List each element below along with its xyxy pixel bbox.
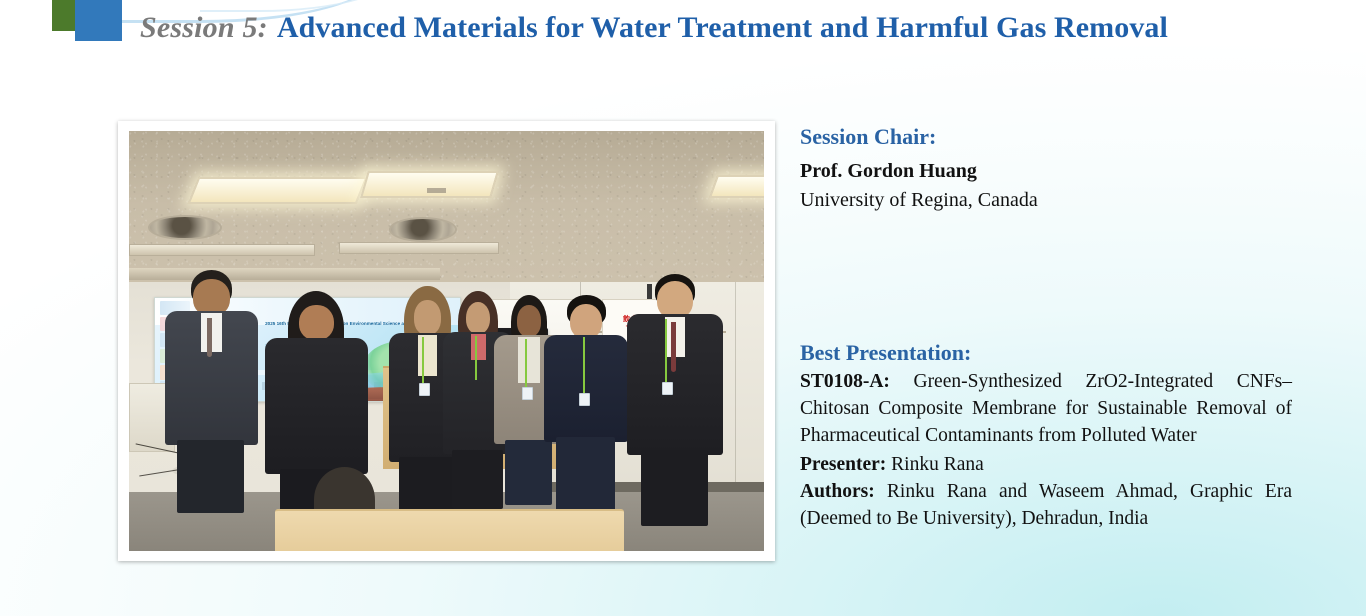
authors-label: Authors: xyxy=(800,481,875,502)
ceiling-vent xyxy=(129,244,315,256)
session-title: Advanced Materials for Water Treatment a… xyxy=(277,11,1168,45)
person xyxy=(542,295,631,518)
session-chair-name: Prof. Gordon Huang xyxy=(800,159,1292,184)
session-chair-heading: Session Chair: xyxy=(800,124,1292,151)
best-presentation-heading: Best Presentation: xyxy=(800,340,1292,367)
presenter-line: Presenter: Rinku Rana xyxy=(800,452,1292,479)
ceiling-light-icon xyxy=(187,177,367,204)
best-presentation-block: Best Presentation: ST0108-A: Green-Synth… xyxy=(800,340,1292,533)
session-chair-affiliation: University of Regina, Canada xyxy=(800,187,1292,213)
ceiling-speaker-icon xyxy=(148,215,222,240)
best-presentation-title: ST0108-A: Green-Synthesized ZrO2-Integra… xyxy=(800,369,1292,450)
slide-canvas: Session 5: Advanced Materials for Water … xyxy=(0,0,1366,616)
header-blue-square xyxy=(75,0,122,41)
ceiling-light-icon xyxy=(709,175,764,198)
front-table xyxy=(275,509,624,551)
wall-edge xyxy=(735,282,736,500)
group-photo-frame: ICEST 2025 16th International Conference… xyxy=(118,121,775,561)
person xyxy=(624,274,726,526)
presenter-label: Presenter: xyxy=(800,454,886,475)
ceiling-speaker-icon xyxy=(389,217,457,242)
page-title: Session 5: Advanced Materials for Water … xyxy=(140,4,1346,52)
authors-line: Authors: Rinku Rana and Waseem Ahmad, Gr… xyxy=(800,479,1292,533)
presenter-name: Rinku Rana xyxy=(891,454,984,475)
paper-id: ST0108-A: xyxy=(800,371,890,392)
session-chair-block: Session Chair: Prof. Gordon Huang Univer… xyxy=(800,124,1292,213)
ceiling-vent xyxy=(339,242,500,254)
session-label: Session 5: xyxy=(140,11,268,45)
ceiling-light-icon xyxy=(360,171,499,198)
ceiling-fitting xyxy=(427,188,446,193)
group-photo: ICEST 2025 16th International Conference… xyxy=(129,131,764,551)
person xyxy=(161,270,263,514)
